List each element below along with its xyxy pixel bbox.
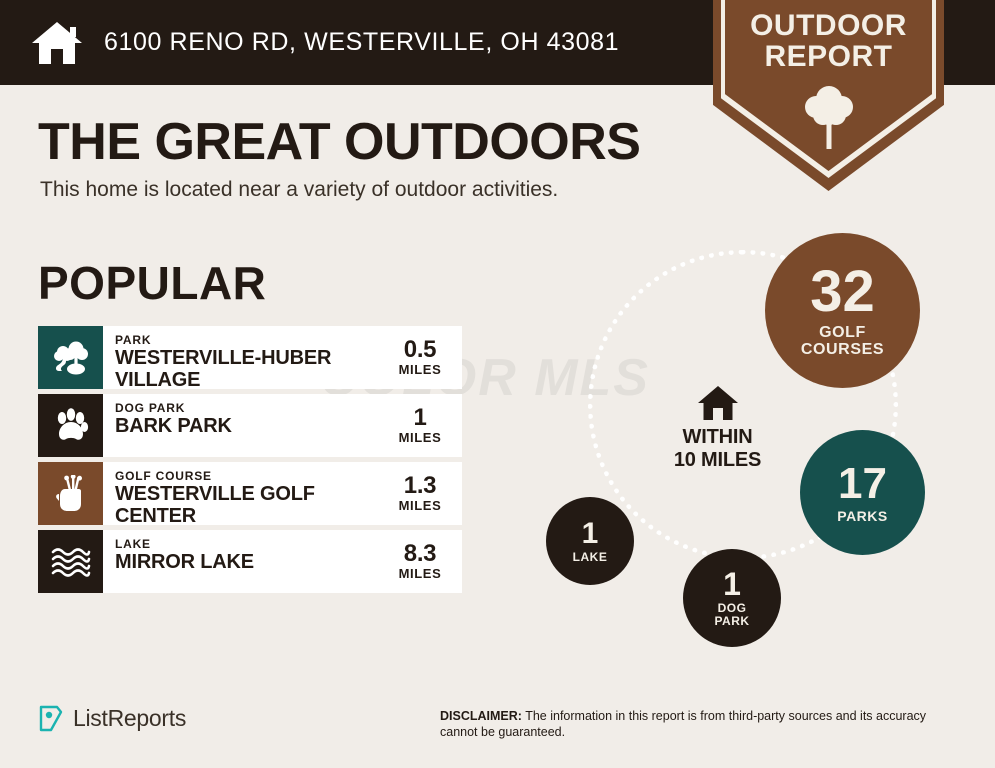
paw-print-icon (38, 394, 103, 457)
list-item[interactable]: LAKE MIRROR LAKE 8.3 MILES (38, 530, 462, 593)
page-title: THE GREAT OUTDOORS (38, 112, 640, 172)
list-item-text: GOLF COURSE WESTERVILLE GOLF CENTER (103, 462, 378, 525)
list-item-distance: 0.5 MILES (378, 326, 462, 389)
stat-parks: 17 PARKS (800, 430, 925, 555)
list-item[interactable]: PARK WESTERVILLE-HUBER VILLAGE 0.5 MILES (38, 326, 462, 389)
stat-dog-parks: 1 DOG PARK (683, 549, 781, 647)
distance-unit: MILES (378, 566, 462, 581)
listreports-logo[interactable]: ListReports (38, 703, 186, 733)
stat-value: 32 (810, 263, 875, 321)
golf-bag-icon (38, 462, 103, 525)
stat-label: LAKE (573, 551, 608, 564)
list-item-category: DOG PARK (115, 401, 378, 415)
stat-value: 1 (723, 568, 741, 600)
tree-icon (713, 83, 944, 154)
header-content: 6100 RENO RD, WESTERVILLE, OH 43081 (30, 0, 619, 85)
outdoor-report-page: COLOR MLS 6100 RENO RD, WESTERVILLE, OH … (0, 0, 995, 768)
popular-list: PARK WESTERVILLE-HUBER VILLAGE 0.5 MILES (38, 326, 462, 598)
stat-value: 17 (838, 462, 887, 506)
listreports-logo-text: ListReports (73, 705, 186, 732)
list-item-text: PARK WESTERVILLE-HUBER VILLAGE (103, 326, 378, 389)
page-subtitle: This home is located near a variety of o… (40, 178, 558, 202)
badge-title: OUTDOOR REPORT (713, 10, 944, 72)
stat-label-line2: COURSES (801, 342, 884, 359)
stat-label: GOLF COURSES (801, 325, 884, 359)
list-item-text: LAKE MIRROR LAKE (103, 530, 378, 593)
distance-unit: MILES (378, 430, 462, 445)
list-item[interactable]: DOG PARK BARK PARK 1 MILES (38, 394, 462, 457)
stat-golf-courses: 32 GOLF COURSES (765, 233, 920, 388)
disclaimer-label: DISCLAIMER: (440, 709, 522, 723)
list-item-category: PARK (115, 333, 378, 347)
stat-label-line2: PARK (714, 615, 749, 628)
list-item-name: BARK PARK (115, 415, 378, 437)
distance-value: 8.3 (378, 542, 462, 566)
list-item-category: LAKE (115, 537, 378, 551)
badge-title-line1: OUTDOOR (713, 10, 944, 41)
stat-value: 1 (582, 519, 599, 549)
within-line1: WITHIN (645, 426, 790, 449)
list-item-name: WESTERVILLE GOLF CENTER (115, 483, 378, 525)
popular-section-title: POPULAR (38, 256, 266, 310)
outdoor-report-badge: OUTDOOR REPORT (713, 0, 944, 191)
home-icon (697, 408, 739, 425)
list-item-name: WESTERVILLE-HUBER VILLAGE (115, 347, 378, 389)
park-trees-icon (38, 326, 103, 389)
disclaimer: DISCLAIMER: The information in this repo… (440, 708, 960, 740)
distance-value: 1 (378, 406, 462, 430)
list-item-distance: 1.3 MILES (378, 462, 462, 525)
stat-lakes: 1 LAKE (546, 497, 634, 585)
badge-title-line2: REPORT (713, 41, 944, 72)
distance-unit: MILES (378, 362, 462, 377)
list-item-name: MIRROR LAKE (115, 551, 378, 573)
listreports-logo-icon (38, 703, 64, 733)
stat-label: PARKS (837, 509, 887, 524)
list-item-distance: 1 MILES (378, 394, 462, 457)
list-item-category: GOLF COURSE (115, 469, 378, 483)
stat-label: DOG PARK (714, 602, 749, 627)
within-radius-label: WITHIN 10 MILES (645, 385, 790, 472)
stat-label-line1: GOLF (801, 325, 884, 342)
within-line2: 10 MILES (645, 449, 790, 472)
list-item-distance: 8.3 MILES (378, 530, 462, 593)
waves-icon (38, 530, 103, 593)
distance-value: 0.5 (378, 338, 462, 362)
home-icon (30, 20, 84, 66)
distance-unit: MILES (378, 498, 462, 513)
distance-value: 1.3 (378, 474, 462, 498)
property-address: 6100 RENO RD, WESTERVILLE, OH 43081 (104, 28, 619, 57)
list-item-text: DOG PARK BARK PARK (103, 394, 378, 457)
list-item[interactable]: GOLF COURSE WESTERVILLE GOLF CENTER 1.3 … (38, 462, 462, 525)
